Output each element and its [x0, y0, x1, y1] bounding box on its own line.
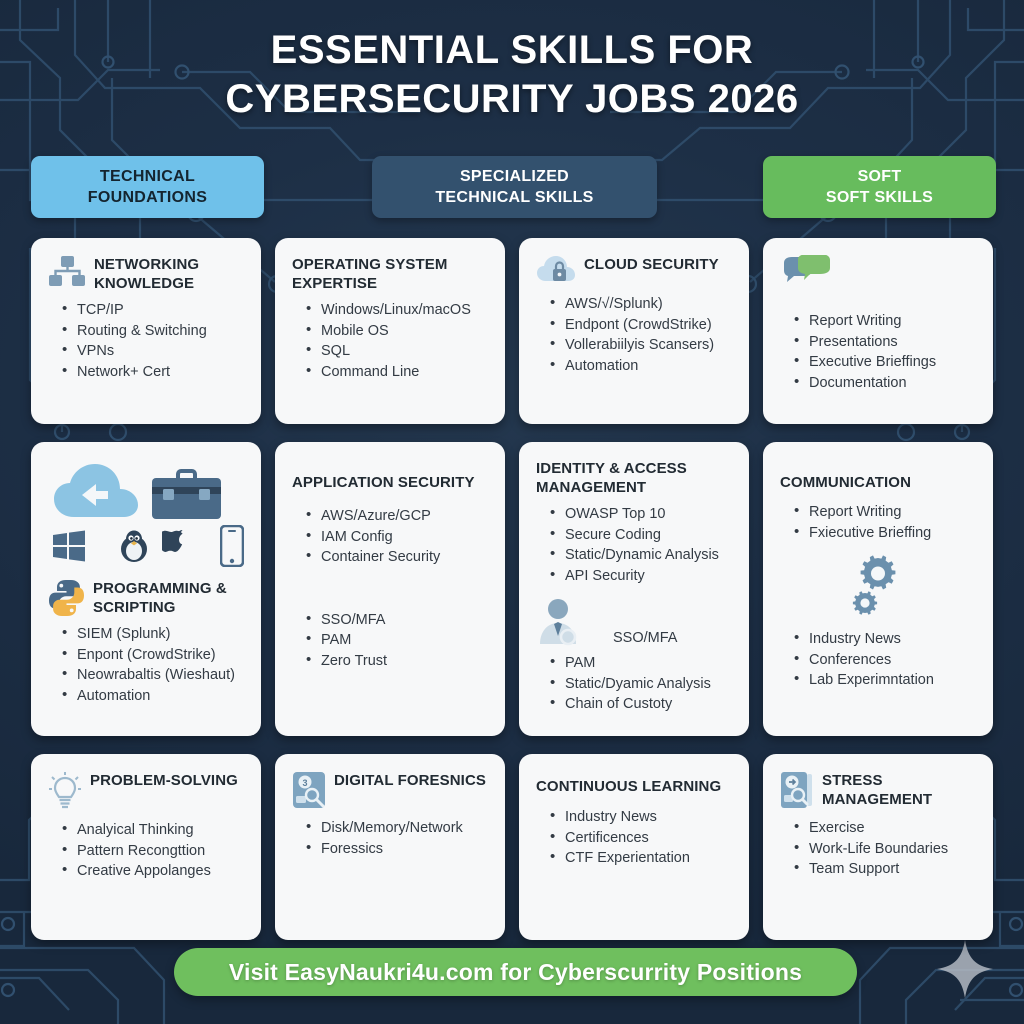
- card-bullet-list-secondary: Industry News Conferences Lab Experimnta…: [794, 629, 976, 691]
- card-header: COMMUNICATION: [780, 473, 976, 492]
- inline-label-sso-mfa: SSO/MFA: [613, 628, 677, 649]
- card-bullet-list: Windows/Linux/macOS Mobile OS SQL Comman…: [306, 300, 488, 382]
- pill-label-line2: FOUNDATIONS: [88, 187, 207, 208]
- linux-tux-icon: [119, 530, 149, 563]
- platform-logos-group: [52, 525, 244, 567]
- skills-card-grid: NETWORKING KNOWLEDGE TCP/IP Routing & Sw…: [31, 238, 993, 940]
- list-item: Conferences: [794, 650, 976, 671]
- card-continuous-learning[interactable]: CONTINUOUS LEARNING Industry News Certif…: [519, 754, 749, 940]
- card-title: DIGITAL FORESNICS: [334, 771, 488, 790]
- footer-cta-banner[interactable]: Visit EasyNaukri4u.com for Cyberscurrity…: [174, 948, 857, 996]
- list-item: VPNs: [62, 341, 244, 362]
- list-item: IAM Config: [306, 527, 488, 548]
- python-icon: [48, 579, 85, 617]
- list-item: CTF Experientation: [550, 848, 732, 869]
- list-item: PAM: [550, 653, 732, 674]
- title-line-2: CYBERSECURITY JOBS 2026: [0, 75, 1024, 124]
- list-item: Neowrabaltis (Wieshaut): [62, 665, 244, 686]
- list-item: Executive Brieffings: [794, 352, 976, 373]
- category-pill-specialized-technical-skills[interactable]: SPECIALIZED TECHNICAL SKILLS: [372, 156, 657, 218]
- card-bullet-list: Exercise Work-Life Boundaries Team Suppo…: [794, 818, 976, 880]
- card-title: CONTINUOUS LEARNING: [536, 777, 732, 796]
- list-item: Presentations: [794, 332, 976, 353]
- card-bullet-list: AWS/√/Splunk) Endpont (CrowdStrike) Voll…: [550, 294, 732, 376]
- list-item: SQL: [306, 341, 488, 362]
- card-title: STRESS MANAGEMENT: [822, 771, 976, 809]
- list-item: SIEM (Splunk): [62, 624, 244, 645]
- footer-cta-label: Visit EasyNaukri4u.com for Cyberscurrity…: [229, 959, 802, 986]
- list-item: Container Security: [306, 547, 488, 568]
- card-header: CONTINUOUS LEARNING: [536, 777, 732, 796]
- list-item: Report Writing: [794, 502, 976, 523]
- list-item: Automation: [550, 356, 732, 377]
- pill-label-line1: SOFT: [858, 166, 902, 187]
- card-bullet-list: OWASP Top 10 Secure Coding Static/Dynami…: [550, 504, 732, 586]
- os-logos-group: [52, 461, 244, 521]
- card-header: NETWORKING KNOWLEDGE: [48, 255, 244, 293]
- card-header: [780, 255, 976, 295]
- network-tree-icon: [48, 255, 86, 291]
- cloud-lock-icon: [536, 255, 576, 287]
- card-bullet-list: Analyical Thinking Pattern Recongttion C…: [62, 820, 244, 882]
- list-item: Zero Trust: [306, 651, 488, 672]
- list-item: Secure Coding: [550, 525, 732, 546]
- card-communication[interactable]: COMMUNICATION Report Writing Fxiecutive …: [763, 442, 993, 736]
- list-item: Documentation: [794, 373, 976, 394]
- list-item: Certificences: [550, 828, 732, 849]
- pill-label-line1: SPECIALIZED: [460, 166, 569, 187]
- list-item: Team Support: [794, 859, 976, 880]
- card-bullet-list-secondary: PAM Static/Dyamic Analysis Chain of Cust…: [550, 653, 732, 715]
- list-item: PAM: [306, 630, 488, 651]
- card-header: STRESS MANAGEMENT: [780, 771, 976, 809]
- card-title: CLOUD SECURITY: [584, 255, 732, 274]
- card-title: PROBLEM-SOLVING: [90, 771, 244, 790]
- card-header: IDENTITY & ACCESS MANAGEMENT: [536, 459, 732, 497]
- card-bullet-list: Report Writing Presentations Executive B…: [794, 311, 976, 393]
- title-line-1: ESSENTIAL SKILLS FOR: [0, 26, 1024, 75]
- card-cloud-security[interactable]: CLOUD SECURITY AWS/√/Splunk) Endpont (Cr…: [519, 238, 749, 424]
- card-header: OPERATING SYSTEM EXPERTISE: [292, 255, 488, 293]
- list-item: Exercise: [794, 818, 976, 839]
- infographic-root: ESSENTIAL SKILLS FOR CYBERSECURITY JOBS …: [0, 0, 1024, 1024]
- apple-icon: [162, 529, 192, 563]
- list-item: Command Line: [306, 362, 488, 383]
- list-item: Static/Dynamic Analysis: [550, 545, 732, 566]
- card-header: PROGRAMMING & SCRIPTING: [48, 579, 244, 617]
- list-item: Vollerabiilyis Scansers): [550, 335, 732, 356]
- list-item: Pattern Recongttion: [62, 841, 244, 862]
- list-item: Fxiecutive Brieffing: [794, 523, 976, 544]
- category-pill-soft-skills[interactable]: SOFT SOFT SKILLS: [763, 156, 996, 218]
- list-item: Lab Experimntation: [794, 670, 976, 691]
- card-bullet-list: Disk/Memory/Network Foressics: [306, 818, 488, 859]
- card-title: COMMUNICATION: [780, 473, 976, 492]
- list-item: SSO/MFA: [306, 610, 488, 631]
- card-title: PROGRAMMING & SCRIPTING: [93, 579, 244, 617]
- list-item: Windows/Linux/macOS: [306, 300, 488, 321]
- card-bullet-list: TCP/IP Routing & Switching VPNs Network+…: [62, 300, 244, 382]
- card-title: IDENTITY & ACCESS MANAGEMENT: [536, 459, 732, 497]
- card-problem-solving[interactable]: PROBLEM-SOLVING Analyical Thinking Patte…: [31, 754, 261, 940]
- card-header: APPLICATION SECURITY: [292, 473, 488, 492]
- list-item: Network+ Cert: [62, 362, 244, 383]
- gears-icon: [845, 553, 911, 615]
- list-item: Report Writing: [794, 311, 976, 332]
- book-magnifier-icon: [780, 771, 814, 809]
- card-application-security[interactable]: APPLICATION SECURITY AWS/Azure/GCP IAM C…: [275, 442, 505, 736]
- list-item: Chain of Custoty: [550, 694, 732, 715]
- list-item: API Security: [550, 566, 732, 587]
- speech-bubbles-icon: [780, 255, 832, 295]
- card-operating-system-expertise[interactable]: OPERATING SYSTEM EXPERTISE Windows/Linux…: [275, 238, 505, 424]
- pill-label-line2: TECHNICAL SKILLS: [435, 187, 593, 208]
- card-networking-knowledge[interactable]: NETWORKING KNOWLEDGE TCP/IP Routing & Sw…: [31, 238, 261, 424]
- cloud-download-icon: [52, 461, 140, 521]
- card-identity-access-management[interactable]: IDENTITY & ACCESS MANAGEMENT OWASP Top 1…: [519, 442, 749, 736]
- card-header: 3 DIGITAL FORESNICS: [292, 771, 488, 809]
- list-item: AWS/√/Splunk): [550, 294, 732, 315]
- card-header: PROBLEM-SOLVING: [48, 771, 244, 811]
- card-title: APPLICATION SECURITY: [292, 473, 488, 492]
- user-badge-icon: [538, 598, 582, 646]
- category-pill-row: TECHNICAL FOUNDATIONS SPECIALIZED TECHNI…: [0, 156, 1024, 218]
- lightbulb-icon: [48, 771, 82, 811]
- card-bullet-list: Report Writing Fxiecutive Brieffing: [794, 502, 976, 543]
- card-bullet-list: AWS/Azure/GCP IAM Config Container Secur…: [306, 506, 488, 568]
- pill-label-line2: SOFT SKILLS: [826, 187, 933, 208]
- toolbox-icon: [150, 469, 223, 521]
- card-digital-forensics[interactable]: 3 DIGITAL FORESNICS Disk/Memory/Network …: [275, 754, 505, 940]
- list-item: Mobile OS: [306, 321, 488, 342]
- mobile-phone-icon: [220, 525, 244, 567]
- card-programming-scripting[interactable]: PROGRAMMING & SCRIPTING SIEM (Splunk) En…: [31, 442, 261, 736]
- list-item: Static/Dyamic Analysis: [550, 674, 732, 695]
- list-item: OWASP Top 10: [550, 504, 732, 525]
- card-bullet-list: Industry News Certificences CTF Experien…: [550, 807, 732, 869]
- card-bullet-list: SIEM (Splunk) Enpont (CrowdStrike) Neowr…: [62, 624, 244, 706]
- category-pill-technical-foundations[interactable]: TECHNICAL FOUNDATIONS: [31, 156, 264, 218]
- list-item: Endpont (CrowdStrike): [550, 315, 732, 336]
- card-spacer: [292, 568, 488, 606]
- list-item: Enpont (CrowdStrike): [62, 645, 244, 666]
- card-title: NETWORKING KNOWLEDGE: [94, 255, 244, 293]
- harddrive-magnifier-icon: 3: [292, 771, 326, 809]
- windows-icon: [52, 530, 86, 563]
- list-item: Disk/Memory/Network: [306, 818, 488, 839]
- list-item: Foressics: [306, 839, 488, 860]
- list-item: Industry News: [794, 629, 976, 650]
- list-item: Work-Life Boundaries: [794, 839, 976, 860]
- list-item: TCP/IP: [62, 300, 244, 321]
- sparkle-icon: [935, 938, 995, 1000]
- card-mid-icon-area: [780, 553, 976, 615]
- card-stress-management[interactable]: STRESS MANAGEMENT Exercise Work-Life Bou…: [763, 754, 993, 940]
- card-bullet-list-secondary: SSO/MFA PAM Zero Trust: [306, 610, 488, 672]
- card-soft-skills-communication[interactable]: Report Writing Presentations Executive B…: [763, 238, 993, 424]
- page-title: ESSENTIAL SKILLS FOR CYBERSECURITY JOBS …: [0, 26, 1024, 124]
- svg-text:3: 3: [302, 778, 307, 788]
- list-item: Industry News: [550, 807, 732, 828]
- list-item: Analyical Thinking: [62, 820, 244, 841]
- card-header: CLOUD SECURITY: [536, 255, 732, 287]
- card-title: OPERATING SYSTEM EXPERTISE: [292, 255, 488, 293]
- list-item: Creative Appolanges: [62, 861, 244, 882]
- list-item: Automation: [62, 686, 244, 707]
- list-item: Routing & Switching: [62, 321, 244, 342]
- pill-label-line1: TECHNICAL: [100, 166, 195, 187]
- card-mid-icon-area: SSO/MFA: [536, 598, 732, 656]
- list-item: AWS/Azure/GCP: [306, 506, 488, 527]
